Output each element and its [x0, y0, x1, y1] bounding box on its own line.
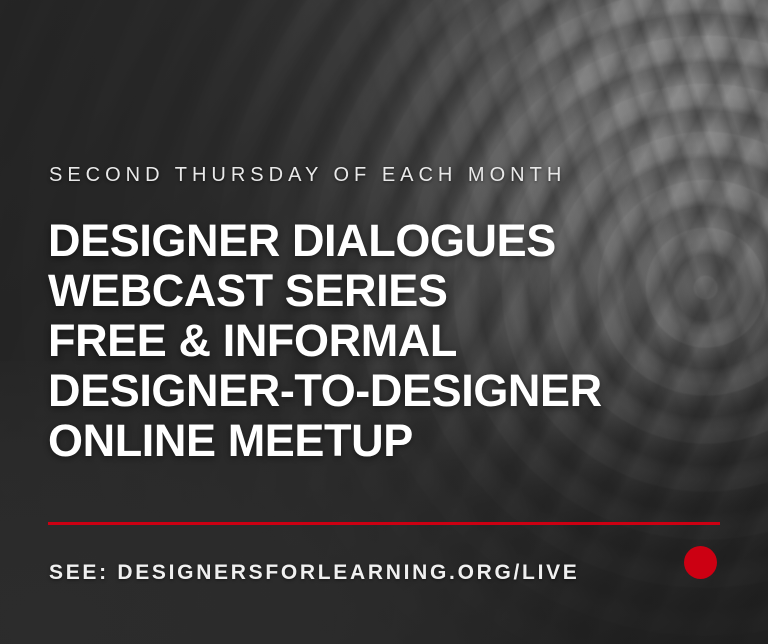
- red-circle-accent: [684, 546, 717, 579]
- headline-line-2: Webcast Series: [48, 266, 602, 316]
- headline-line-5: Online Meetup: [48, 416, 602, 466]
- footer-website-url[interactable]: See: designersforlearning.org/live: [49, 562, 580, 583]
- page-title: Designer Dialogues Webcast Series Free &…: [48, 216, 602, 466]
- headline-line-4: Designer-to-Designer: [48, 366, 602, 416]
- poster-content: Second Thursday of Each Month Designer D…: [0, 0, 768, 644]
- headline-line-1: Designer Dialogues: [48, 216, 602, 266]
- eyebrow-schedule-text: Second Thursday of Each Month: [49, 165, 566, 185]
- headline-line-3: Free & Informal: [48, 316, 602, 366]
- red-divider-rule: [48, 522, 720, 525]
- promo-poster: Second Thursday of Each Month Designer D…: [0, 0, 768, 644]
